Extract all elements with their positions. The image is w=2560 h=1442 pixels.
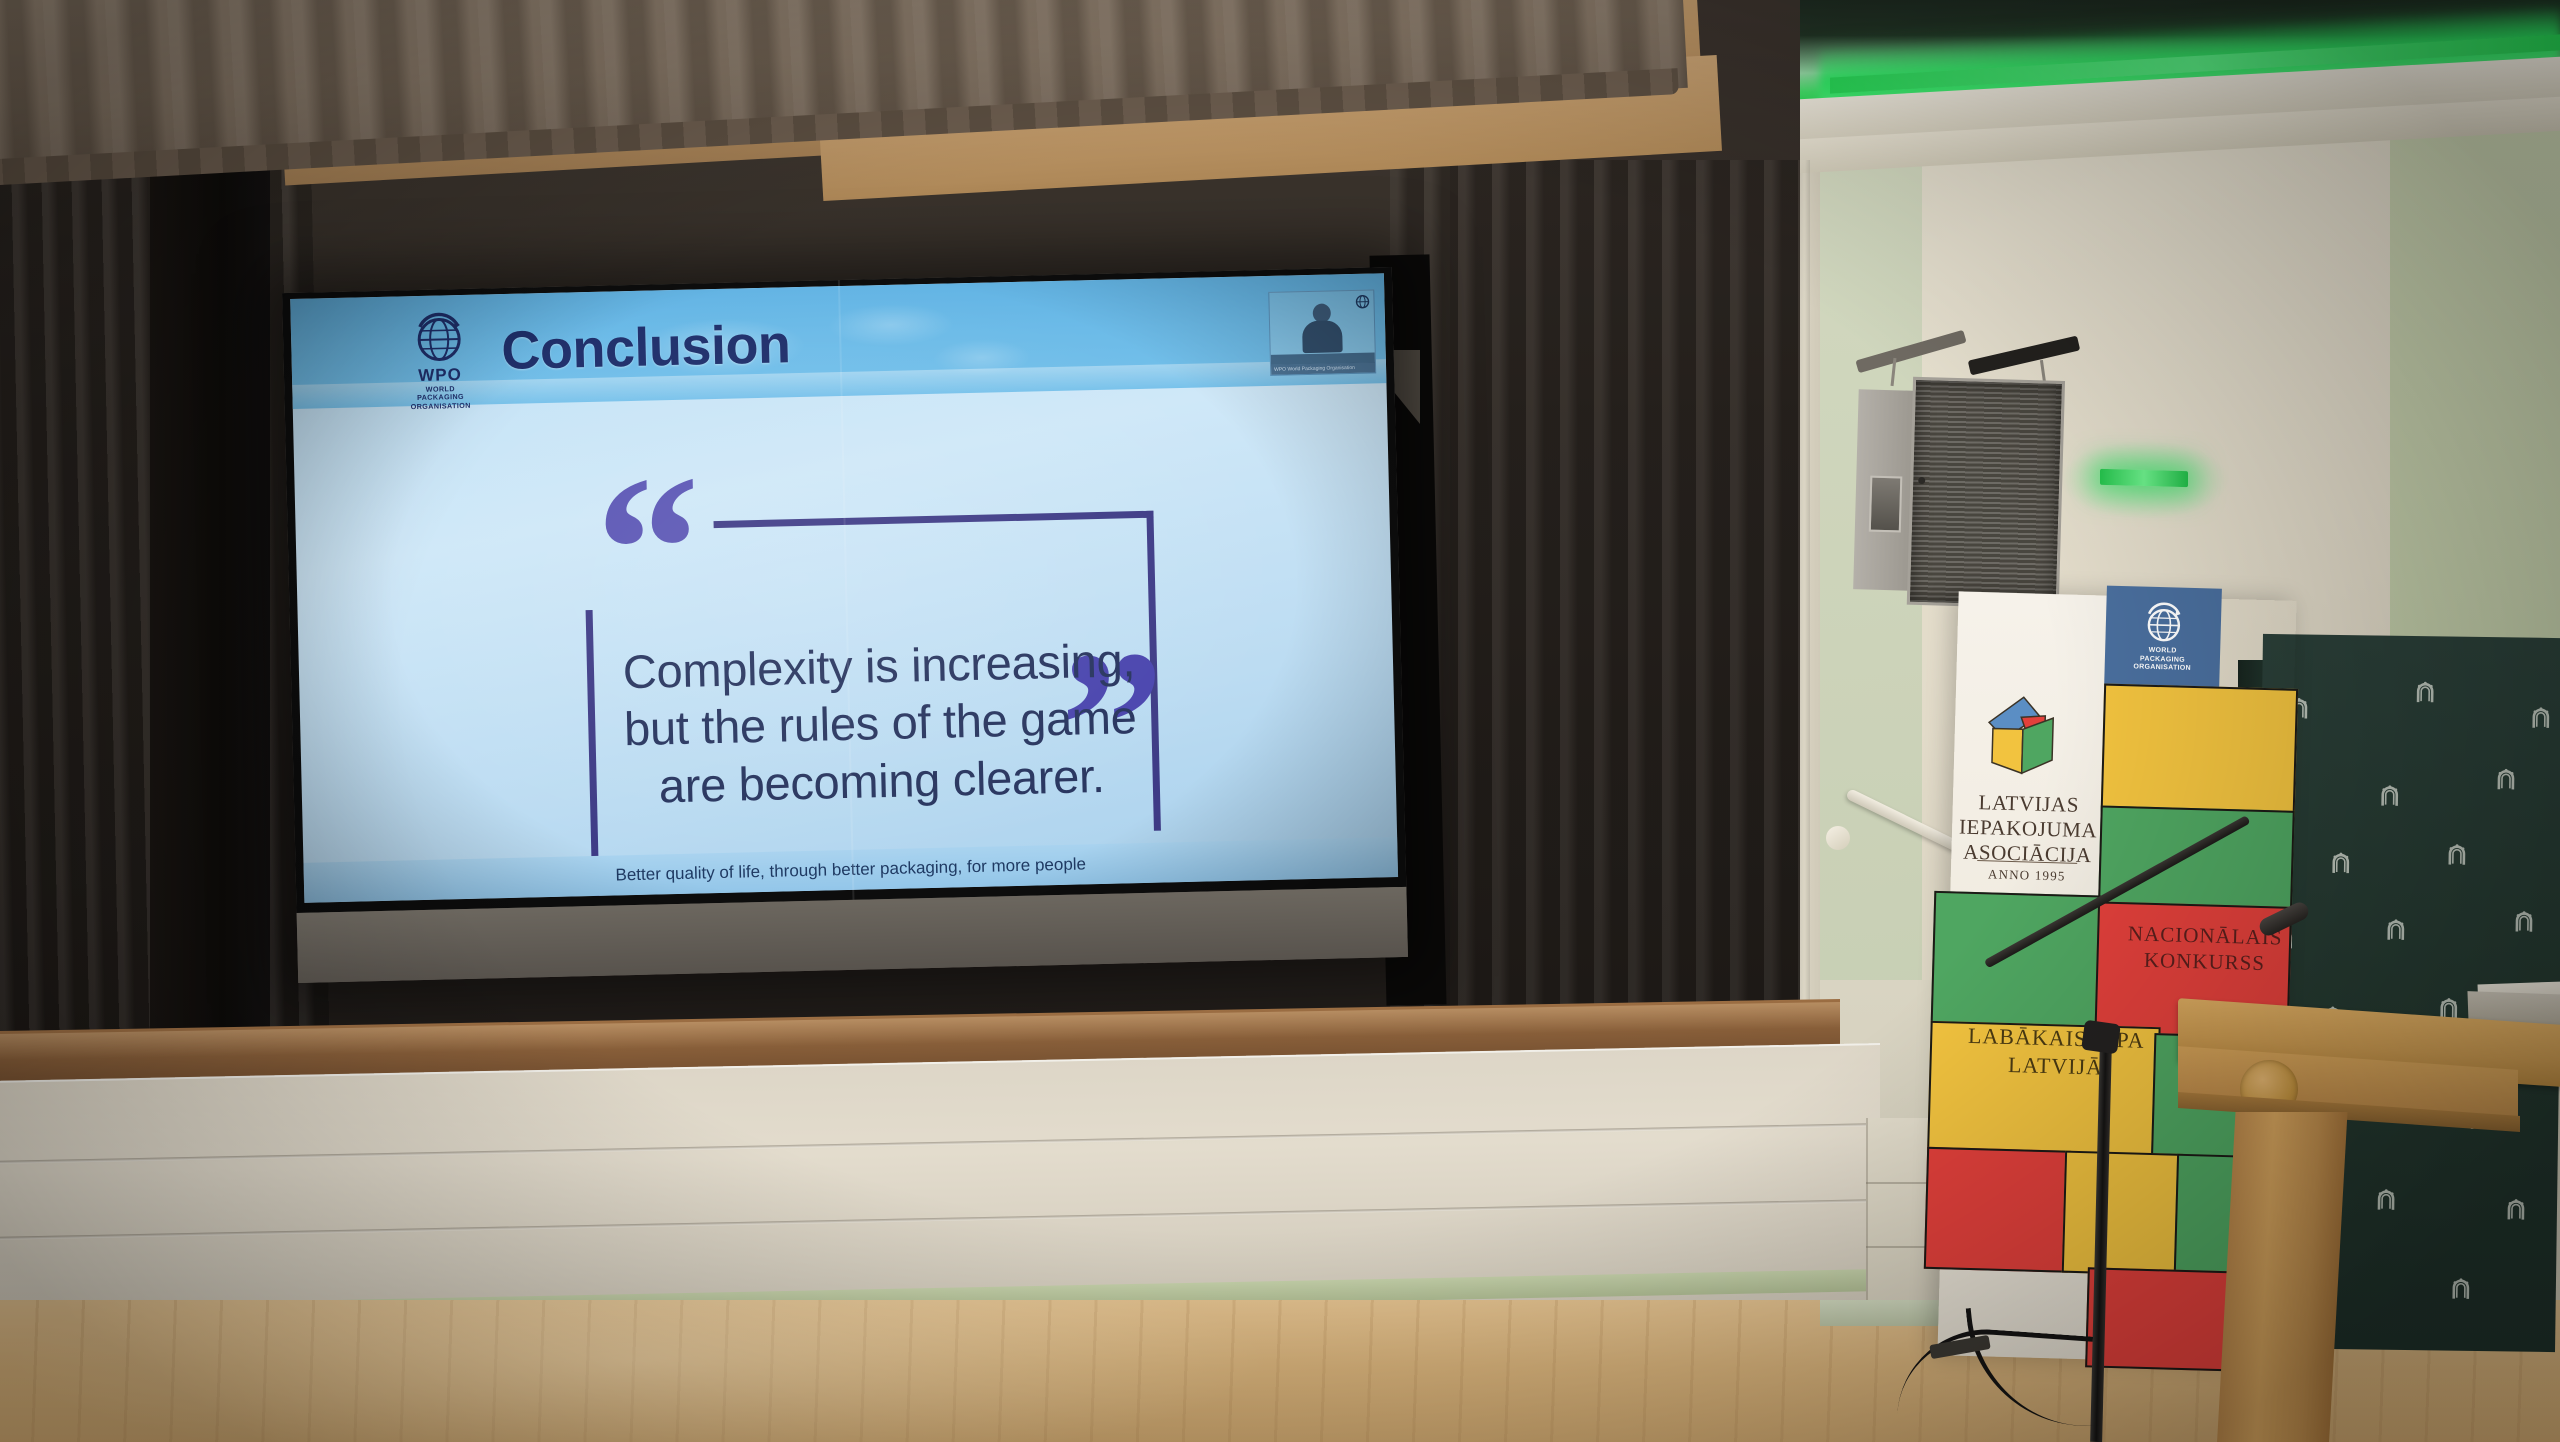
lia-name-line1: LATVIJAS [1959,790,2100,819]
banner-tile-yellow-1 [2101,684,2298,817]
slide-title: Conclusion [501,313,791,382]
lectern [2178,1012,2560,1442]
speaker-body [1302,320,1343,353]
banner-tile-red-2 [1924,1147,2071,1273]
banner-award-title: LABĀKAIS IEPA LATVIJĀ [1955,1022,2156,1083]
loudspeaker-grille [1907,377,2065,609]
banner-tile-yellow-3 [2062,1151,2183,1276]
microphone-boom-clamp [2081,1020,2121,1055]
projection-screen: WPO WORLD PACKAGING ORGANISATION Conclus… [282,267,1408,983]
horseshoe-icon [2495,767,2517,791]
webcam-wpo-badge-icon [1354,294,1370,310]
horseshoe-icon [2530,706,2552,730]
presentation-slide: WPO WORLD PACKAGING ORGANISATION Conclus… [290,273,1398,903]
stage-curtain-left-inner [150,150,270,1060]
banner-wpo-line3: ORGANISATION [2133,664,2191,674]
lia-name-line2: IEPAKOJUMA [1958,814,2099,843]
globe-icon [410,309,467,366]
horseshoe-icon [2513,909,2535,933]
speaker-silhouette [1300,303,1345,352]
green-led-wall-strip [2100,469,2188,487]
open-quote-icon: “ [594,474,691,627]
banner-wpo-logo: WORLD PACKAGING ORGANISATION [2104,586,2222,689]
horseshoe-icon [2330,851,2352,875]
wpo-logo: WPO WORLD PACKAGING ORGANISATION [378,308,500,407]
handrail-end-cap [1826,826,1850,850]
horseshoe-icon [2379,784,2401,808]
wpo-acronym: WPO [418,366,462,384]
lectern-column [2216,1112,2347,1442]
wall-loudspeaker [1853,375,2059,602]
award-line-2: LATVIJĀ [1955,1049,2156,1082]
wpo-full-name: WORLD PACKAGING ORGANISATION [410,385,471,412]
wpo-name-line3: ORGANISATION [411,402,471,412]
slide-quote-text: Complexity is increasing, but the rules … [598,631,1162,816]
horseshoe-icon [2446,843,2468,867]
speaker-webcam-thumbnail: WPO World Packaging Organisation [1268,289,1376,375]
award-line-1: LABĀKAIS IEPA [1956,1022,2157,1055]
stage-curtain-right [1390,160,1810,1060]
loudspeaker-port [1869,476,1903,533]
lia-cube-logo-icon [1981,688,2076,787]
horseshoe-icon [2385,918,2407,942]
banner-wpo-name: WORLD PACKAGING ORGANISATION [2133,647,2191,674]
conference-hall-scene: WPO WORLD PACKAGING ORGANISATION Conclus… [0,0,2560,1442]
projection-screen-surface: WPO WORLD PACKAGING ORGANISATION Conclus… [282,267,1406,913]
horseshoe-icon [2414,680,2436,704]
competition-line-2: KONKURSS [2124,946,2285,977]
webcam-caption: WPO World Packaging Organisation [1271,362,1376,375]
globe-icon [2141,601,2186,646]
lia-org-name: LATVIJAS IEPAKOJUMA ASOCIĀCIJA [1957,790,2099,868]
quote-bracket-top [714,511,1154,528]
wall-green-band-right [2390,120,2560,680]
